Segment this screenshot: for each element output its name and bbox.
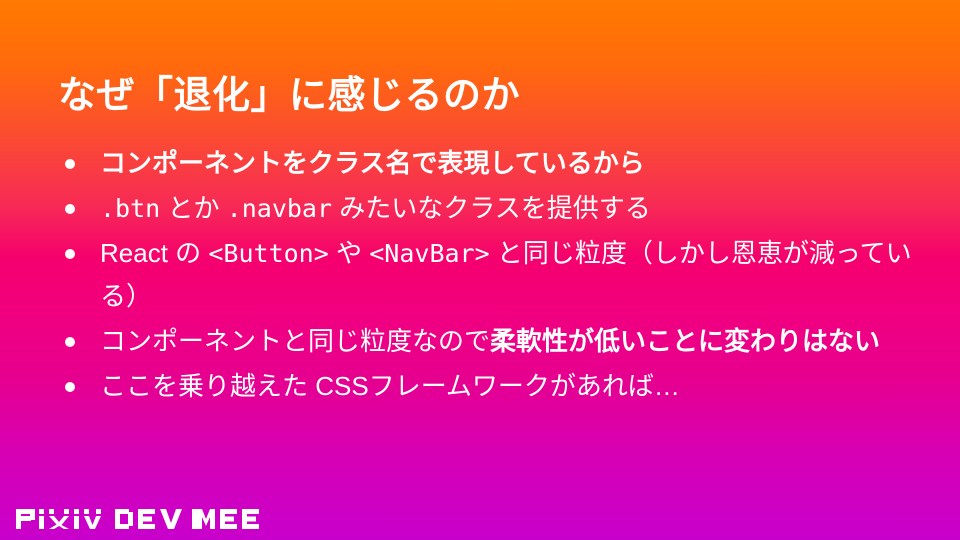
bullet-item: .btn とか .navbar みたいなクラスを提供する <box>58 187 918 230</box>
bullet-list: コンポーネントをクラス名で表現しているから.btn とか .navbar みたい… <box>58 142 918 410</box>
bullet-text-run: .btn <box>100 194 160 223</box>
bullet-text: コンポーネントをクラス名で表現しているから <box>100 148 645 178</box>
bullet-item: React の <Button> や <NavBar> と同じ粒度（しかし恩恵が… <box>58 232 918 318</box>
bullet-marker-icon <box>65 249 75 259</box>
bullet-text-run: みたいなクラスを提供する <box>332 193 651 223</box>
bullet-text-run: の <box>168 238 208 268</box>
bullet-text-run: React <box>100 238 168 268</box>
bullet-text-run: 柔軟性が低いことに変わりはない <box>490 326 880 356</box>
bullet-text: React の <Button> や <NavBar> と同じ粒度（しかし恩恵が… <box>100 238 912 311</box>
bullet-text-run: <Button> <box>208 239 328 268</box>
bullet-item: コンポーネントをクラス名で表現しているから <box>58 142 918 185</box>
bullet-text-run: とか <box>160 193 226 223</box>
bullet-text: .btn とか .navbar みたいなクラスを提供する <box>100 193 651 223</box>
bullet-text-run: コンポーネントをクラス名で表現しているから <box>100 148 645 178</box>
bullet-marker-icon <box>65 337 75 347</box>
slide-title: なぜ「退化」に感じるのか <box>58 75 520 119</box>
bullet-text: ここを乗り越えた CSSフレームワークがあれば… <box>100 371 680 401</box>
pixiv-dev-meetup-logo: PIXIV DEV MEETUP <box>16 506 268 532</box>
pixiv-dev-meetup-logo-icon <box>16 507 268 531</box>
bullet-text-run: CSS <box>315 371 368 401</box>
bullet-text-run: フレームワークがあれば… <box>369 371 680 401</box>
bullet-text-run: や <box>329 238 369 268</box>
bullet-marker-icon <box>65 204 75 214</box>
bullet-text: コンポーネントと同じ粒度なので柔軟性が低いことに変わりはない <box>100 326 880 356</box>
bullet-text-run: コンポーネントと同じ粒度なので <box>100 326 490 356</box>
bullet-text-run: .navbar <box>227 194 332 223</box>
bullet-text-run: ここを乗り越えた <box>100 371 315 401</box>
presentation-slide: なぜ「退化」に感じるのか コンポーネントをクラス名で表現しているから.btn と… <box>0 0 960 540</box>
bullet-marker-icon <box>65 159 75 169</box>
bullet-text-run: <NavBar> <box>369 239 489 268</box>
bullet-marker-icon <box>65 382 75 392</box>
bullet-item: コンポーネントと同じ粒度なので柔軟性が低いことに変わりはない <box>58 320 918 363</box>
bullet-item: ここを乗り越えた CSSフレームワークがあれば… <box>58 365 918 408</box>
